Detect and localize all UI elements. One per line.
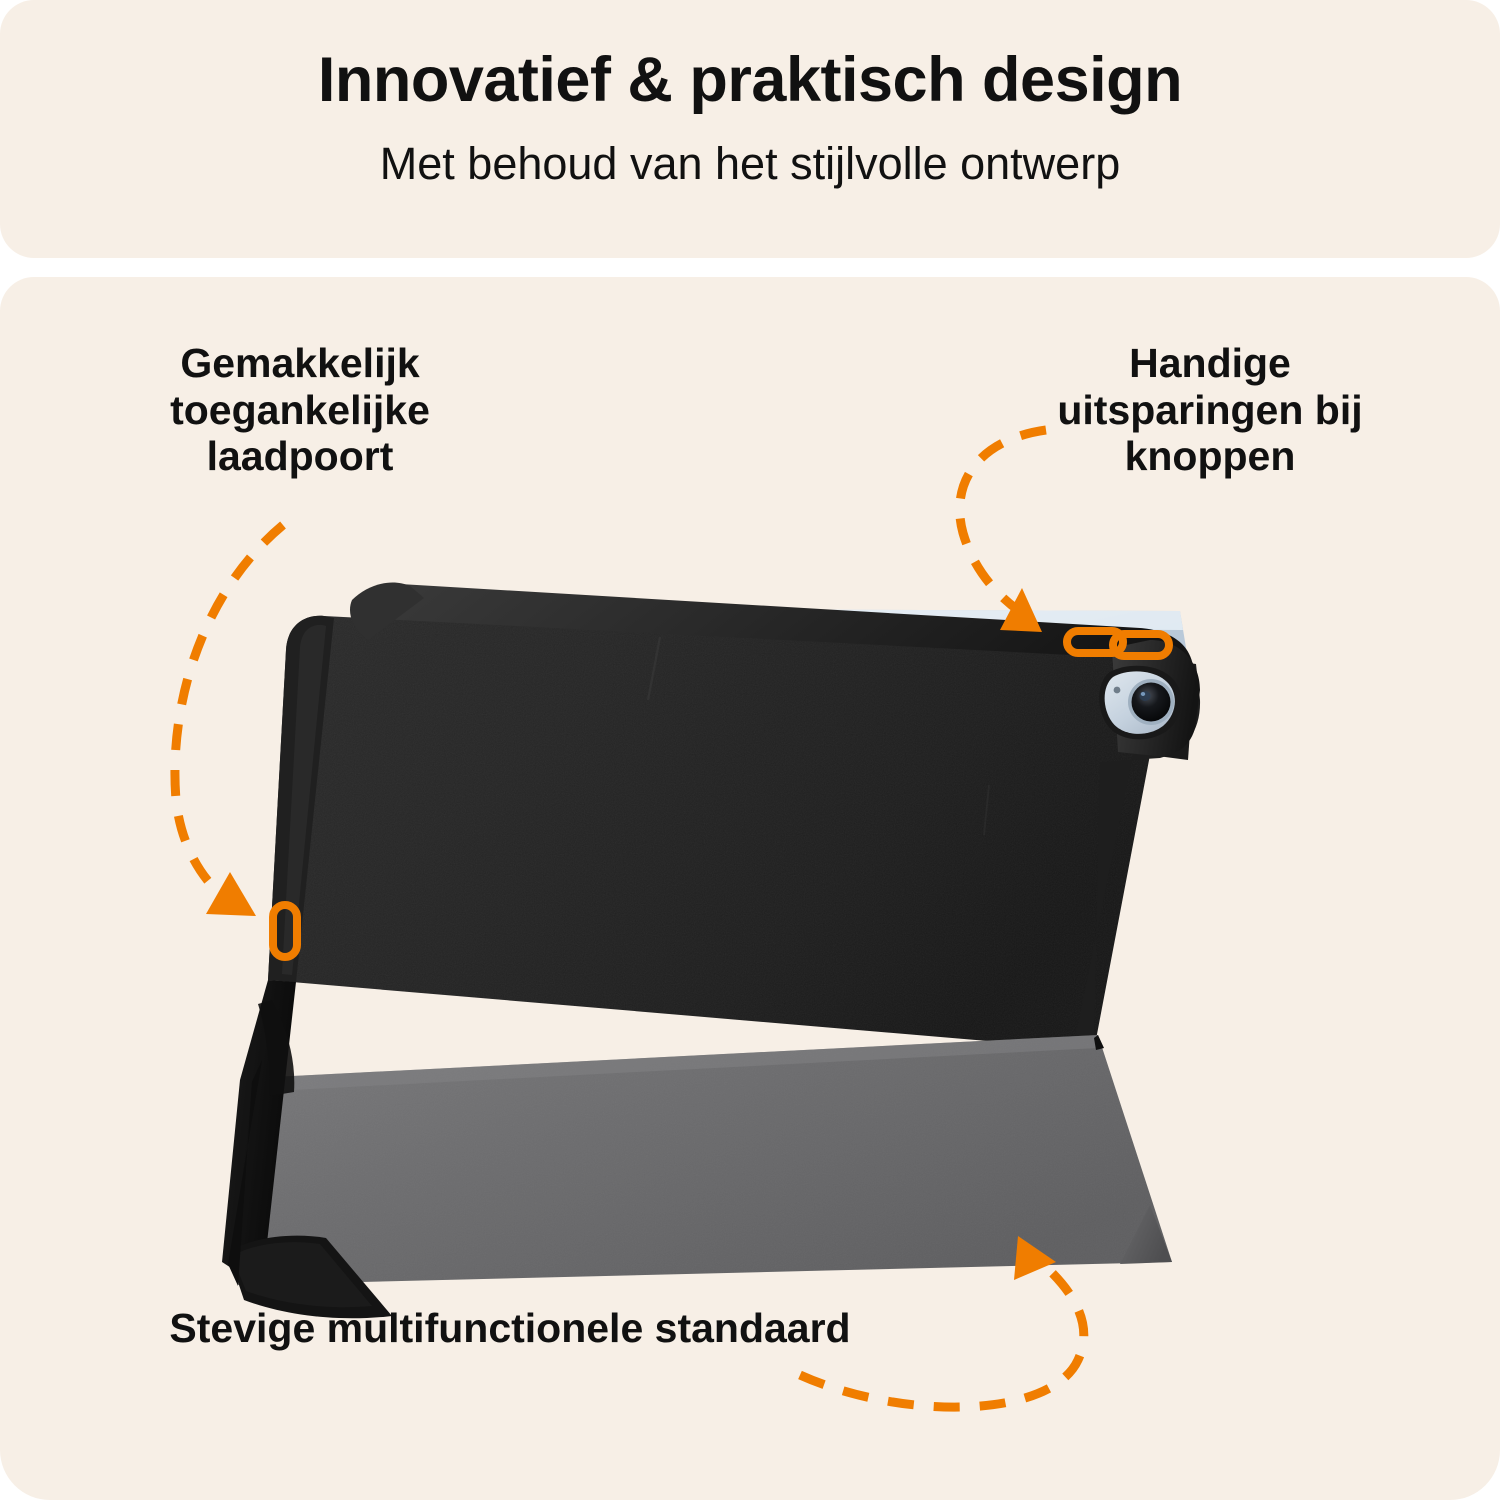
callout-label-button-cutouts: Handige uitsparingen bij knoppen xyxy=(1010,340,1410,480)
infographic-root: Innovatief & praktisch design Met behoud… xyxy=(0,0,1500,1500)
rear-camera-module xyxy=(1099,666,1181,740)
callout-label-charging-port: Gemakkelijk toegankelijke laadpoort xyxy=(80,340,520,480)
callout-label-stand: Stevige multifunctionele standaard xyxy=(150,1305,870,1352)
product-illustration xyxy=(0,0,1500,1500)
kickstand-panel xyxy=(238,1035,1172,1285)
case-back-cover xyxy=(268,582,1194,1050)
